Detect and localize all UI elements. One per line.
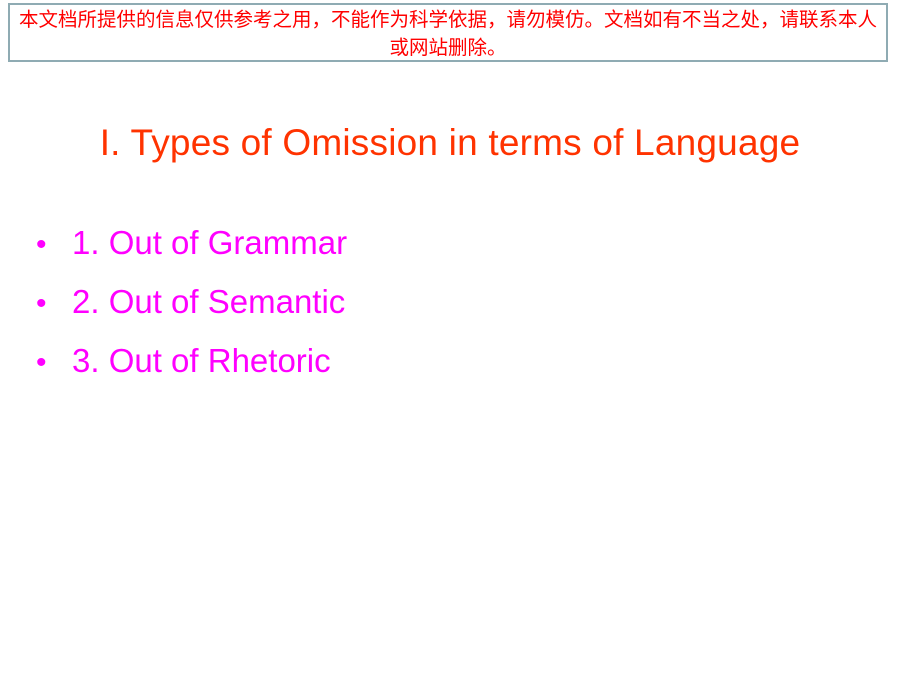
bullet-point-icon: •	[36, 215, 72, 274]
disclaimer-text: 本文档所提供的信息仅供参考之用，不能作为科学依据，请勿模仿。文档如有不当之处，请…	[14, 5, 882, 62]
list-item: • 1. Out of Grammar	[36, 213, 856, 272]
bullet-item-label: 3. Out of Rhetoric	[72, 331, 331, 390]
list-item: • 3. Out of Rhetoric	[36, 331, 856, 390]
bullet-item-label: 1. Out of Grammar	[72, 213, 347, 272]
bullet-point-icon: •	[36, 274, 72, 333]
list-item: • 2. Out of Semantic	[36, 272, 856, 331]
bullet-list: • 1. Out of Grammar • 2. Out of Semantic…	[36, 213, 856, 390]
disclaimer-notice-box: 本文档所提供的信息仅供参考之用，不能作为科学依据，请勿模仿。文档如有不当之处，请…	[8, 3, 888, 62]
bullet-item-label: 2. Out of Semantic	[72, 272, 345, 331]
page-title: I. Types of Omission in terms of Languag…	[0, 121, 900, 165]
bullet-point-icon: •	[36, 333, 72, 392]
